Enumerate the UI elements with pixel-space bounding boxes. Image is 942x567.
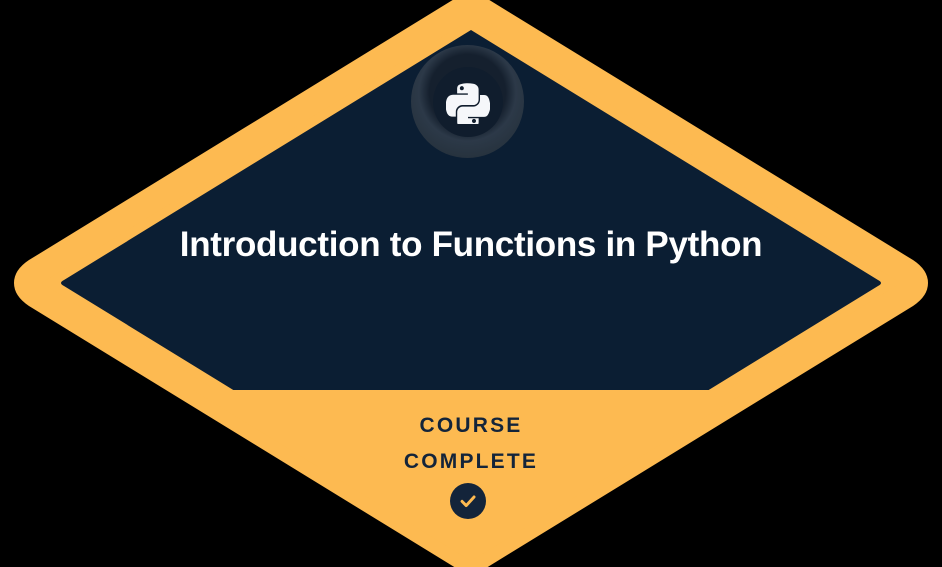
orange-footer-band bbox=[0, 390, 942, 567]
course-completion-badge: Introduction to Functions in Python COUR… bbox=[0, 0, 942, 567]
python-emblem-core bbox=[433, 67, 503, 137]
check-mark-glyph bbox=[457, 490, 479, 512]
python-emblem[interactable] bbox=[411, 45, 524, 158]
check-circle-icon[interactable] bbox=[450, 483, 486, 519]
python-logo-icon bbox=[446, 80, 490, 124]
